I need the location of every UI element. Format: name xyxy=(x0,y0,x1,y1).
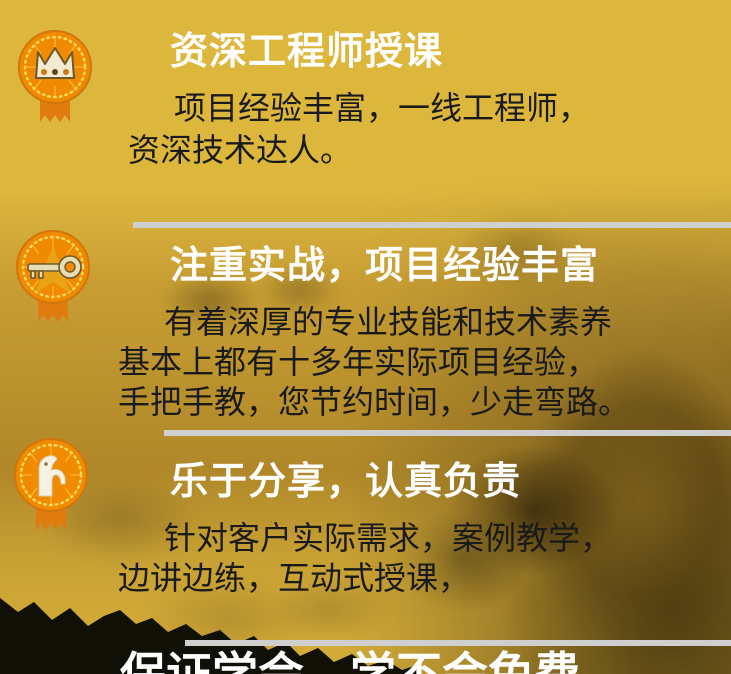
section-body-line: 资深技术达人。 xyxy=(128,130,352,170)
body-line-text: 基本上都有十多年实际项目经验， xyxy=(118,343,598,381)
section-body-line: 手把手教，您节约时间，少走弯路。 xyxy=(118,382,630,422)
section-heading: 乐于分享，认真负责 xyxy=(170,458,521,504)
body-line-text: 手把手教，您节约时间，少走弯路。 xyxy=(118,383,630,421)
bottom-headline: 保证学会，学不会免费 xyxy=(120,648,580,674)
section-body-line: 边讲边练，互动式授课， xyxy=(118,558,470,598)
horse-medal-icon xyxy=(8,434,94,534)
section-body-line: 有着深厚的专业技能和技术素养 xyxy=(118,302,612,342)
crown-medal-icon xyxy=(12,26,98,126)
section-heading: 资深工程师授课 xyxy=(170,28,443,74)
section-body-line: 针对客户实际需求，案例教学， xyxy=(118,518,612,558)
section-body-line: 项目经验丰富，一线工程师， xyxy=(128,88,590,128)
section-divider xyxy=(133,222,731,228)
section-heading: 注重实战，项目经验丰富 xyxy=(170,242,599,288)
body-line-text: 项目经验丰富，一线工程师， xyxy=(174,89,590,127)
section-body-line: 基本上都有十多年实际项目经验， xyxy=(118,342,598,382)
poster-root: 资深工程师授课 项目经验丰富，一线工程师， 资深技术达人。 xyxy=(0,0,731,674)
body-line-text: 有着深厚的专业技能和技术素养 xyxy=(164,303,612,341)
body-line-text: 针对客户实际需求，案例教学， xyxy=(164,519,612,557)
key-medal-icon xyxy=(10,226,96,326)
section-divider xyxy=(164,430,731,436)
section-divider xyxy=(185,640,731,646)
body-line-text: 边讲边练，互动式授课， xyxy=(118,559,470,597)
body-line-text: 资深技术达人。 xyxy=(128,131,352,169)
poster-content: 资深工程师授课 项目经验丰富，一线工程师， 资深技术达人。 xyxy=(0,0,731,674)
